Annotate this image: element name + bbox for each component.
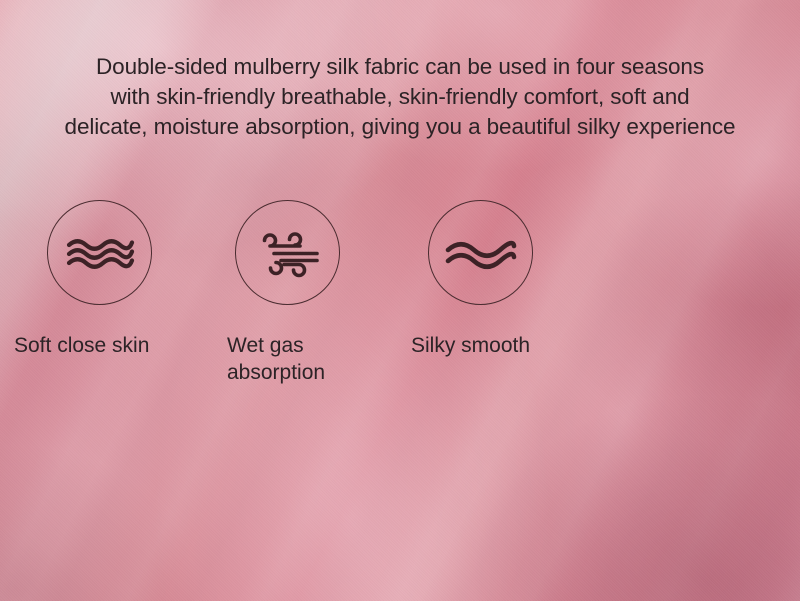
feature-label: Silky smooth [411,332,601,359]
feature-icon-circle [428,200,533,305]
banner-content: Double-sided mulberry silk fabric can be… [0,0,800,601]
feature-label: Soft close skin [14,332,204,359]
wind-airflow-icon [236,201,341,306]
feature-icon-circle [47,200,152,305]
feature-label: Wet gas absorption [227,332,387,386]
silk-fabric-promo-banner: Double-sided mulberry silk fabric can be… [0,0,800,601]
feature-icon-circle [235,200,340,305]
feature-list: Soft close skin [0,200,800,400]
double-wavy-lines-icon [429,201,534,306]
triple-wavy-lines-icon [48,201,153,306]
headline-text: Double-sided mulberry silk fabric can be… [0,52,800,142]
